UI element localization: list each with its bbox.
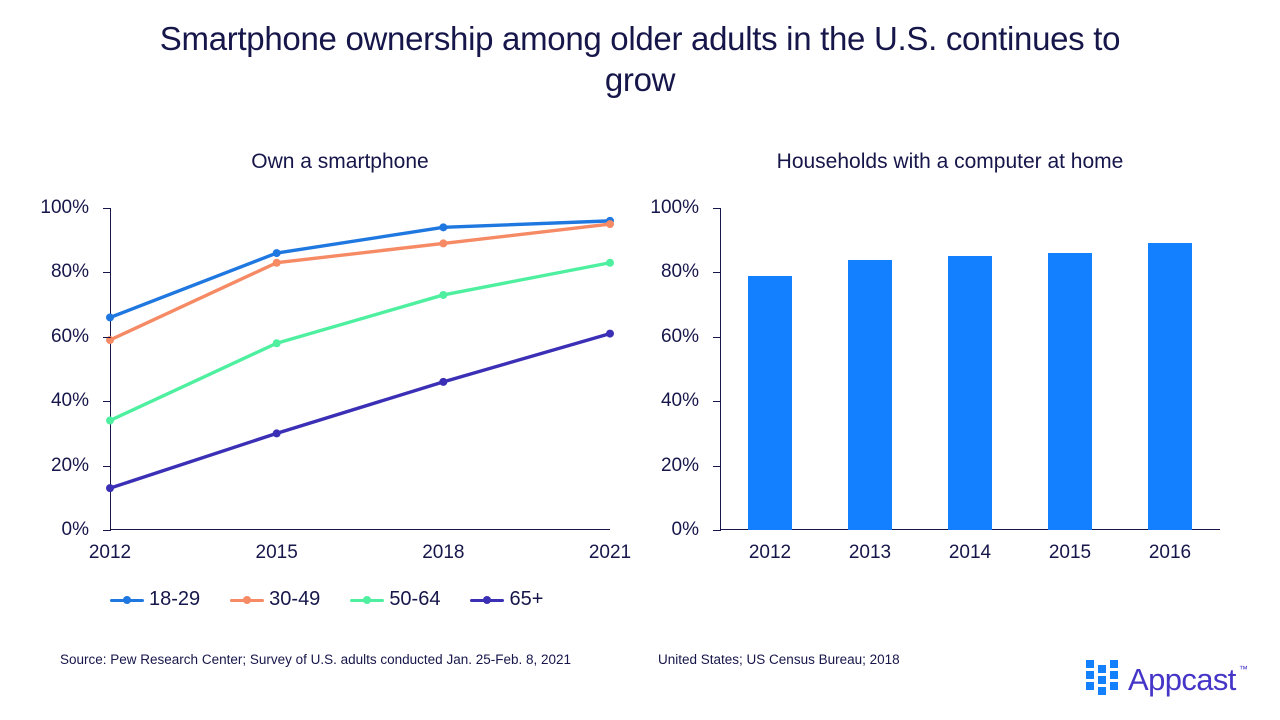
- legend-swatch-icon: [230, 594, 264, 606]
- right-chart-y-tick-label: 40%: [661, 390, 699, 412]
- data-point-marker: [606, 330, 614, 338]
- left-chart-y-tick-label: 20%: [51, 455, 89, 477]
- right-chart-x-tick-label: 2014: [949, 542, 991, 564]
- left-chart-y-tick: 40%: [103, 401, 111, 402]
- legend-swatch-icon: [470, 594, 504, 606]
- bar-2012: [748, 276, 792, 530]
- legend-swatch-icon: [110, 594, 144, 606]
- legend-item-18-29[interactable]: 18-29: [110, 588, 200, 611]
- right-chart-y-tick: 80%: [713, 272, 721, 273]
- page-title: Smartphone ownership among older adults …: [140, 18, 1140, 100]
- source-note-left: Source: Pew Research Center; Survey of U…: [60, 650, 580, 669]
- data-point-marker: [106, 313, 114, 321]
- legend-label: 30-49: [269, 588, 320, 611]
- data-point-marker: [106, 417, 114, 425]
- right-chart-y-tick-label: 20%: [661, 455, 699, 477]
- left-chart-x-tick-label: 2021: [589, 542, 631, 564]
- legend-label: 18-29: [149, 588, 200, 611]
- right-chart-y-tick: 60%: [713, 337, 721, 338]
- line-series-50-64: [110, 263, 610, 421]
- line-series-18-29: [110, 221, 610, 318]
- legend-item-50-64[interactable]: 50-64: [350, 588, 440, 611]
- legend-label: 50-64: [389, 588, 440, 611]
- data-point-marker: [273, 259, 281, 267]
- right-chart-x-tick-label: 2013: [849, 542, 891, 564]
- right-chart-x-tick-label: 2012: [749, 542, 791, 564]
- chart-title-right: Households with a computer at home: [650, 150, 1250, 174]
- data-point-marker: [439, 239, 447, 247]
- right-chart-y-tick-label: 0%: [672, 519, 699, 541]
- chart-title-left: Own a smartphone: [40, 150, 640, 174]
- left-chart-y-tick-label: 100%: [40, 197, 89, 219]
- data-point-marker: [606, 259, 614, 267]
- right-chart-y-tick-label: 60%: [661, 326, 699, 348]
- line-series-group: [110, 208, 610, 530]
- left-chart-x-tick-label: 2018: [422, 542, 464, 564]
- data-point-marker: [439, 291, 447, 299]
- right-chart-x-tick-label: 2016: [1149, 542, 1191, 564]
- appcast-logo: Appcast ™: [1086, 660, 1248, 698]
- left-chart-y-tick-label: 80%: [51, 261, 89, 283]
- appcast-grid-logo-icon: [1086, 660, 1120, 698]
- right-chart-y-tick-label: 100%: [650, 197, 699, 219]
- legend-item-30-49[interactable]: 30-49: [230, 588, 320, 611]
- data-point-marker: [606, 220, 614, 228]
- data-point-marker: [273, 339, 281, 347]
- left-chart-y-tick-label: 40%: [51, 390, 89, 412]
- legend-label: 65+: [509, 588, 543, 611]
- source-note-right: United States; US Census Bureau; 2018: [658, 650, 1078, 669]
- right-chart-y-tick: 20%: [713, 466, 721, 467]
- left-chart-x-tick-label: 2015: [256, 542, 298, 564]
- bar-2016: [1148, 243, 1192, 530]
- chart-own-a-smartphone: Own a smartphone 0%20%40%60%80%100%20122…: [40, 150, 640, 570]
- left-chart-y-tick: 20%: [103, 466, 111, 467]
- line-series-65+: [110, 334, 610, 489]
- trademark-symbol: ™: [1239, 664, 1248, 674]
- left-chart-y-tick: 100%: [103, 208, 111, 209]
- right-chart-y-tick: 40%: [713, 401, 721, 402]
- right-chart-y-tick: 0%: [713, 530, 721, 531]
- left-chart-y-tick: 60%: [103, 337, 111, 338]
- y-axis-line-right: [720, 208, 721, 530]
- right-chart-y-tick: 100%: [713, 208, 721, 209]
- left-chart-x-tick-label: 2012: [89, 542, 131, 564]
- legend: 18-2930-4950-6465+: [110, 588, 543, 611]
- left-chart-y-tick: 0%: [103, 530, 111, 531]
- bar-2014: [948, 256, 992, 530]
- plot-area-line-chart: 0%20%40%60%80%100%2012201520182021: [110, 208, 610, 530]
- legend-item-65+[interactable]: 65+: [470, 588, 543, 611]
- plot-area-bar-chart: 0%20%40%60%80%100%20122013201420152016: [720, 208, 1220, 530]
- left-chart-y-tick-label: 0%: [62, 519, 89, 541]
- left-chart-y-tick-label: 60%: [51, 326, 89, 348]
- data-point-marker: [439, 223, 447, 231]
- left-chart-y-tick: 80%: [103, 272, 111, 273]
- right-chart-x-tick-label: 2015: [1049, 542, 1091, 564]
- data-point-marker: [273, 429, 281, 437]
- right-chart-y-tick-label: 80%: [661, 261, 699, 283]
- bar-2013: [848, 260, 892, 530]
- data-point-marker: [439, 378, 447, 386]
- data-point-marker: [106, 484, 114, 492]
- chart-households-with-computer: Households with a computer at home 0%20%…: [650, 150, 1250, 570]
- appcast-wordmark: Appcast: [1128, 664, 1236, 695]
- data-point-marker: [273, 249, 281, 257]
- slide-canvas: Smartphone ownership among older adults …: [0, 0, 1280, 720]
- bar-2015: [1048, 253, 1092, 530]
- legend-swatch-icon: [350, 594, 384, 606]
